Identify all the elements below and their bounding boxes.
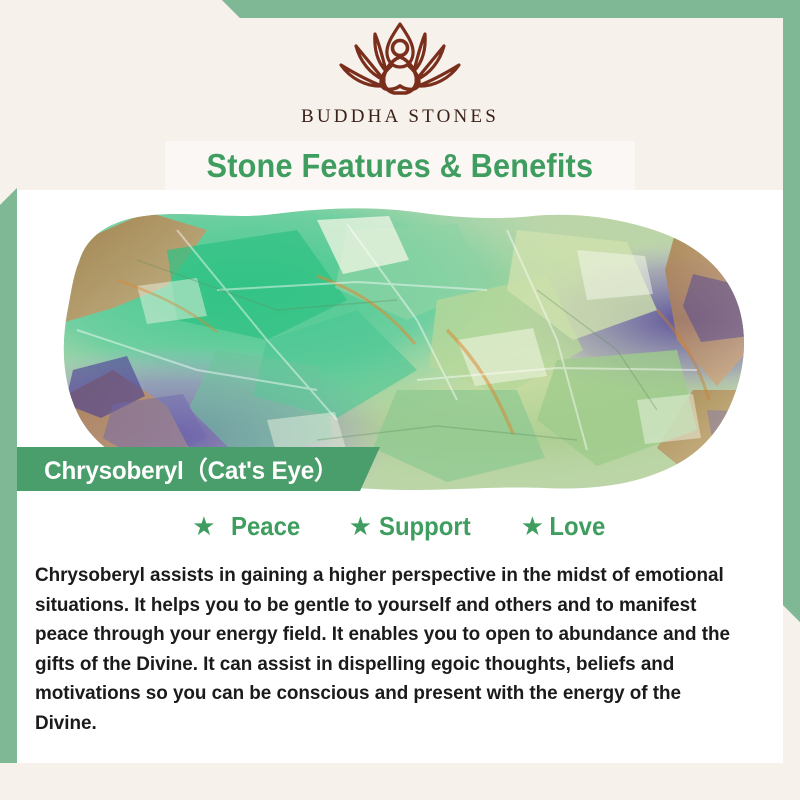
star-icon: ★ xyxy=(521,513,544,539)
page-title: Stone Features & Benefits xyxy=(207,147,594,185)
stone-description: Chrysoberyl assists in gaining a higher … xyxy=(35,561,745,738)
brand-logo: BUDDHA STONES xyxy=(0,18,800,140)
benefit-item-support: ★ Support xyxy=(349,511,475,542)
star-icon: ★ xyxy=(349,513,372,539)
benefits-and-description-panel: ★ Peace ★ Support ★ Love Chrysoberyl ass… xyxy=(17,499,783,763)
benefit-label-support: Support xyxy=(379,511,471,542)
stone-name-banner: Chrysoberyl（Cat's Eye） xyxy=(17,447,380,491)
benefit-item-peace: ★ Peace xyxy=(192,511,303,542)
brand-name: BUDDHA STONES xyxy=(301,106,499,128)
lotus-meditation-icon xyxy=(334,18,466,104)
benefit-label-peace: Peace xyxy=(231,511,300,542)
benefits-row: ★ Peace ★ Support ★ Love xyxy=(17,511,783,542)
stone-info-poster: BUDDHA STONES Stone Features & Benefits xyxy=(0,0,800,800)
bottom-cream-strip xyxy=(0,763,800,800)
star-icon: ★ xyxy=(192,513,215,539)
benefit-item-love: ★ Love xyxy=(521,511,608,542)
title-banner: Stone Features & Benefits xyxy=(165,141,635,190)
stone-name-label: Chrysoberyl（Cat's Eye） xyxy=(17,451,338,487)
benefit-label-love: Love xyxy=(549,511,605,542)
